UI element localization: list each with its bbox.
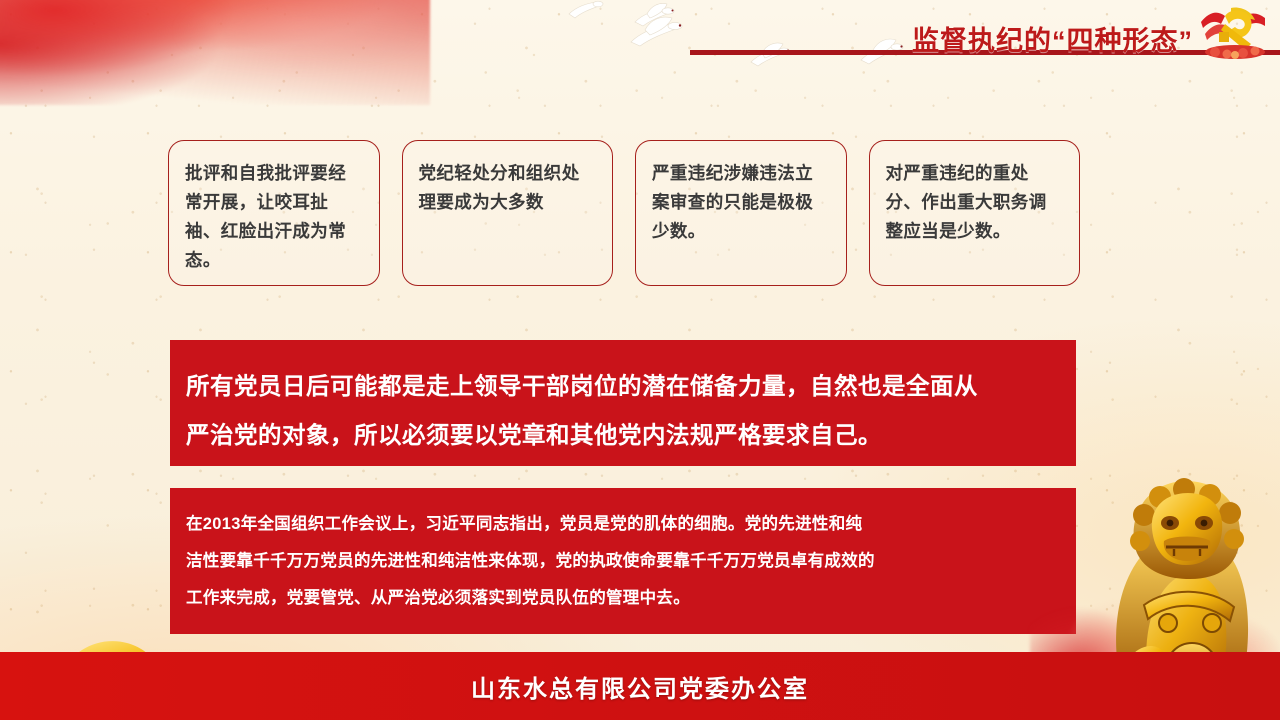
statement-cards: 批评和自我批评要经常开展，让咬耳扯袖、红脸出汗成为常态。 党纪轻处分和组织处理要…: [168, 140, 1080, 286]
statement-card: 党纪轻处分和组织处理要成为大多数: [402, 140, 614, 286]
main-banner-line-2: 严治党的对象，所以必须要以党章和其他党内法规严格要求自己。: [186, 411, 1060, 460]
dove-icon: [625, 0, 679, 36]
dove-icon: [745, 40, 793, 72]
quote-banner-line-2: 洁性要靠千千万万党员的先进性和纯洁性来体现，党的执政使命要靠千千万万党员卓有成效…: [186, 543, 1060, 580]
statement-card-text: 党纪轻处分和组织处理要成为大多数: [419, 159, 597, 217]
flag-wisp-decoration: [180, 0, 480, 90]
party-emblem-icon: [1195, 2, 1275, 60]
quote-red-banner: 在2013年全国组织工作会议上，习近平同志指出，党员是党的肌体的细胞。党的先进性…: [170, 488, 1076, 634]
footer-text: 山东水总有限公司党委办公室: [471, 669, 809, 704]
main-red-banner: 所有党员日后可能都是走上领导干部岗位的潜在储备力量，自然也是全面从 严治党的对象…: [170, 340, 1076, 466]
statement-card-text: 对严重违纪的重处分、作出重大职务调整应当是少数。: [886, 159, 1064, 246]
statement-card-text: 批评和自我批评要经常开展，让咬耳扯袖、红脸出汗成为常态。: [185, 159, 363, 275]
slide-canvas: 监督执纪的“四种形态” 批评和自我批评要经常开展，让咬耳扯袖、红脸出汗成为常态。…: [0, 0, 1280, 720]
page-title: 监督执纪的“四种形态”: [912, 19, 1193, 58]
dove-icon: [625, 12, 687, 54]
footer-bar: 山东水总有限公司党委办公室: [0, 652, 1280, 720]
dove-icon: [563, 0, 607, 24]
statement-card: 对严重违纪的重处分、作出重大职务调整应当是少数。: [869, 140, 1081, 286]
quote-banner-line-1: 在2013年全国组织工作会议上，习近平同志指出，党员是党的肌体的细胞。党的先进性…: [186, 506, 1060, 543]
statement-card: 严重违纪涉嫌违法立案审查的只能是极极少数。: [635, 140, 847, 286]
statement-card-text: 严重违纪涉嫌违法立案审查的只能是极极少数。: [652, 159, 830, 246]
quote-banner-line-3: 工作来完成，党要管党、从严治党必须落实到党员队伍的管理中去。: [186, 580, 1060, 617]
red-silk-flag-decoration: [0, 0, 430, 105]
statement-card: 批评和自我批评要经常开展，让咬耳扯袖、红脸出汗成为常态。: [168, 140, 380, 286]
main-banner-line-1: 所有党员日后可能都是走上领导干部岗位的潜在储备力量，自然也是全面从: [186, 362, 1060, 411]
